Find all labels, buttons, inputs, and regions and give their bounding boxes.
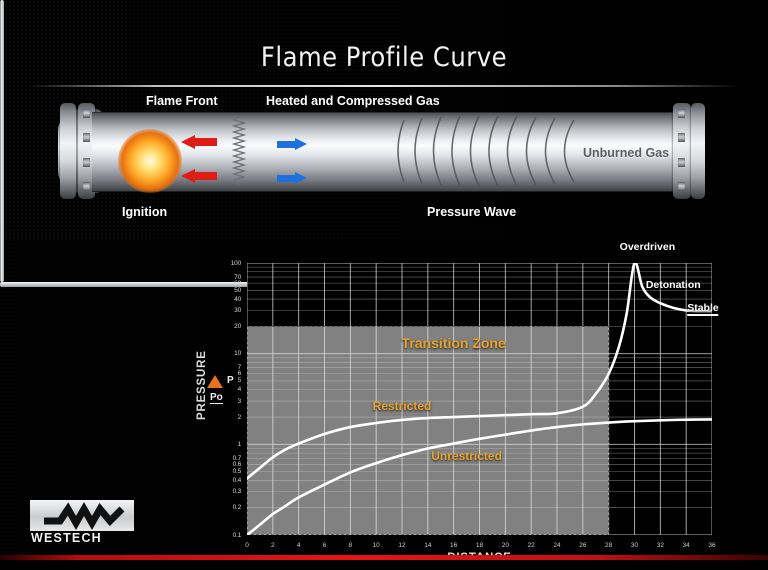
x-tick-label: 32: [657, 542, 664, 549]
x-tick-label: 14: [424, 542, 431, 549]
y-tick-label: 0.5: [233, 468, 241, 475]
slide-root: Flame Profile Curve: [0, 0, 768, 570]
annotation-transition-zone: Transition Zone: [402, 335, 506, 351]
y-tick-label: 10: [234, 350, 241, 357]
y-tick-label: 60: [234, 280, 241, 287]
x-tick-label: 12: [398, 542, 405, 549]
annotation-unrestricted: Unrestricted: [431, 449, 502, 463]
flame-profile-chart: [247, 263, 712, 535]
x-tick-label: 36: [708, 542, 715, 549]
pipe-flange-right: [673, 103, 691, 199]
x-tick-label: 34: [683, 542, 690, 549]
y-tick-label: 70: [234, 274, 241, 281]
x-tick-label: 0: [245, 542, 249, 549]
delta-triangle-icon: [207, 375, 223, 388]
y-tick-label: 0.3: [233, 488, 241, 495]
label-ignition: Ignition: [122, 205, 167, 219]
footer-black-bar: [0, 560, 768, 570]
y-tick-label: 20: [234, 323, 241, 330]
x-tick-label: 28: [605, 542, 612, 549]
page-title: Flame Profile Curve: [0, 42, 768, 73]
chart-plot-area: [247, 263, 712, 535]
blue-right-arrow-icon: [277, 137, 307, 151]
westech-w-logo: [30, 500, 134, 531]
legend-numerator: P: [227, 375, 234, 386]
blue-right-arrow-icon: [277, 171, 307, 185]
pipe-flange-left-outer: [60, 103, 76, 199]
x-tick-label: 4: [297, 542, 301, 549]
y-tick-label: 40: [234, 296, 241, 303]
pressure-ratio-legend: P Po: [203, 370, 247, 410]
legend-denominator: Po: [210, 392, 223, 404]
red-left-arrow-icon: [181, 135, 217, 149]
detonation-pipe-diagram: Flame Front Heated and Compressed Gas Un…: [0, 95, 768, 235]
x-tick-label: 18: [476, 542, 483, 549]
x-tick-label: 6: [323, 542, 327, 549]
red-left-arrow-icon: [181, 169, 217, 183]
y-tick-label: 50: [234, 287, 241, 294]
annotation-restricted: Restricted: [373, 399, 432, 413]
westech-logo: WESTECH: [30, 500, 134, 548]
y-tick-label: 0.1: [233, 532, 241, 539]
label-flame-front: Flame Front: [146, 94, 218, 108]
annotation-detonation: Detonation: [646, 279, 701, 291]
annotation-overdriven: Overdriven: [620, 241, 675, 253]
y-tick-label: 0.4: [233, 477, 241, 484]
brand-name: WESTECH: [31, 531, 102, 545]
annotation-stable: Stable: [687, 302, 719, 316]
y-tick-label: 2: [238, 414, 241, 421]
label-unburned-gas: Unburned Gas: [583, 146, 669, 160]
x-tick-label: 30: [631, 542, 638, 549]
y-tick-label: 0.2: [233, 504, 241, 511]
x-tick-label: 24: [553, 542, 560, 549]
y-tick-label: 30: [234, 307, 241, 314]
title-divider: [28, 85, 740, 87]
label-heated-gas: Heated and Compressed Gas: [266, 94, 440, 108]
x-tick-label: 20: [502, 542, 509, 549]
x-tick-label: 26: [579, 542, 586, 549]
x-tick-label: 2: [271, 542, 275, 549]
explosion-burst-icon: [118, 129, 182, 193]
zigzag-flame-front-icon: [232, 117, 246, 185]
x-tick-label: 16: [450, 542, 457, 549]
label-pressure-wave: Pressure Wave: [427, 205, 516, 219]
x-tick-label: 8: [349, 542, 353, 549]
y-tick-label: 100: [231, 260, 241, 267]
pipe-end-right: [691, 103, 705, 199]
y-tick-label: 0.6: [233, 461, 241, 468]
y-tick-label: 0.7: [233, 455, 241, 462]
x-tick-label: 22: [528, 542, 535, 549]
y-tick-label: 1: [238, 441, 241, 448]
x-tick-label: 10: [373, 542, 380, 549]
